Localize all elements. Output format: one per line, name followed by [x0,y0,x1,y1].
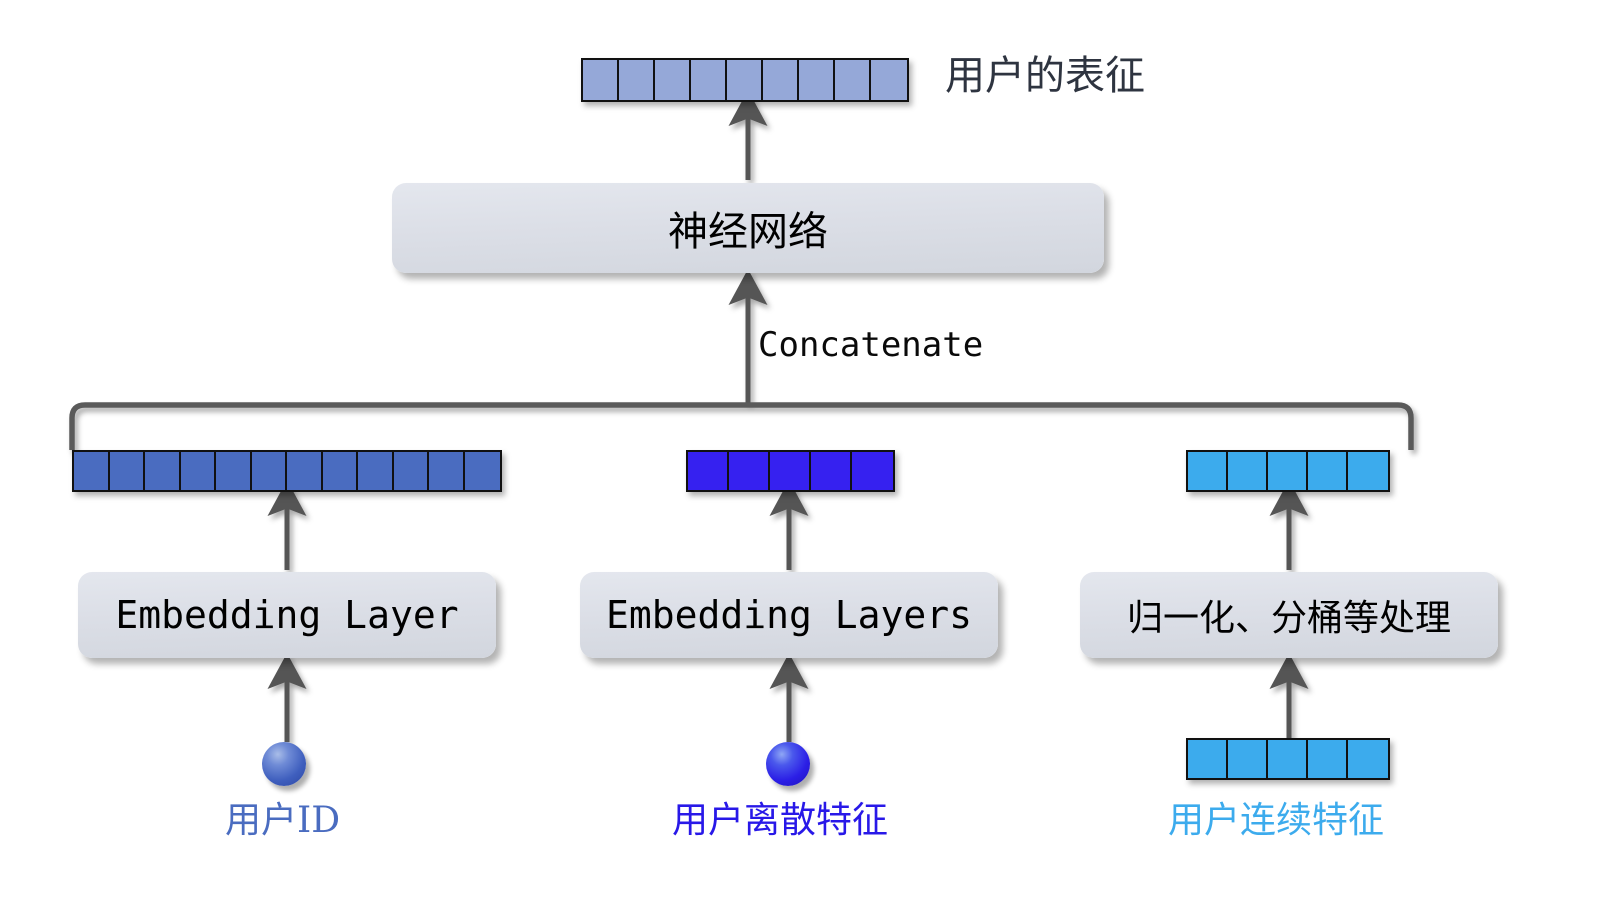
embedding-layer-label: Embedding Layer [115,593,458,637]
vector-cell [852,452,893,490]
concatenate-label: Concatenate [758,328,983,362]
vector-cell [583,60,619,100]
vector-cell [323,452,359,490]
user-continuous-processed-vector [1186,450,1390,492]
vector-cell [358,452,394,490]
vector-cell [871,60,907,100]
vector-cell [1308,740,1348,778]
vector-cell [181,452,217,490]
vector-cell [1348,452,1388,490]
user-id-embedding-vector [72,450,502,492]
normalization-bucketing-box[interactable]: 归一化、分桶等处理 [1080,572,1498,658]
vector-cell [287,452,323,490]
vector-cell [1348,740,1388,778]
neural-network-label: 神经网络 [668,199,828,257]
vector-cell [688,452,729,490]
vector-cell [835,60,871,100]
vector-cell [1228,452,1268,490]
user-id-label: 用户ID [225,803,340,839]
concat-brace [72,405,1411,450]
user-continuous-label: 用户连续特征 [1168,803,1384,839]
vector-cell [655,60,691,100]
vector-cell [727,60,763,100]
vector-cell [1268,452,1308,490]
vector-cell [74,452,110,490]
vector-cell [429,452,465,490]
user-representation-vector [581,58,909,102]
embedding-layers-box[interactable]: Embedding Layers [580,572,998,658]
vector-cell [1188,452,1228,490]
user-id-node-icon [262,742,306,786]
vector-cell [811,452,852,490]
user-discrete-node-icon [766,742,810,786]
vector-cell [252,452,288,490]
vector-cell [729,452,770,490]
diagram-canvas: 用户的表征 神经网络 Concatenate Embedding Layer 用… [0,0,1598,901]
vector-cell [1268,740,1308,778]
embedding-layers-label: Embedding Layers [606,593,972,637]
normalization-bucketing-label: 归一化、分桶等处理 [1127,589,1451,641]
vector-cell [763,60,799,100]
vector-cell [110,452,146,490]
vector-cell [1228,740,1268,778]
vector-cell [394,452,430,490]
user-discrete-embedding-vector [686,450,895,492]
neural-network-box[interactable]: 神经网络 [392,183,1104,273]
vector-cell [799,60,835,100]
vector-cell [145,452,181,490]
vector-cell [619,60,655,100]
vector-cell [216,452,252,490]
user-representation-caption: 用户的表征 [945,56,1145,96]
user-continuous-input-vector [1186,738,1390,780]
vector-cell [691,60,727,100]
vector-cell [770,452,811,490]
embedding-layer-box[interactable]: Embedding Layer [78,572,496,658]
vector-cell [1188,740,1228,778]
user-discrete-label: 用户离散特征 [672,803,888,839]
vector-cell [465,452,501,490]
vector-cell [1308,452,1348,490]
